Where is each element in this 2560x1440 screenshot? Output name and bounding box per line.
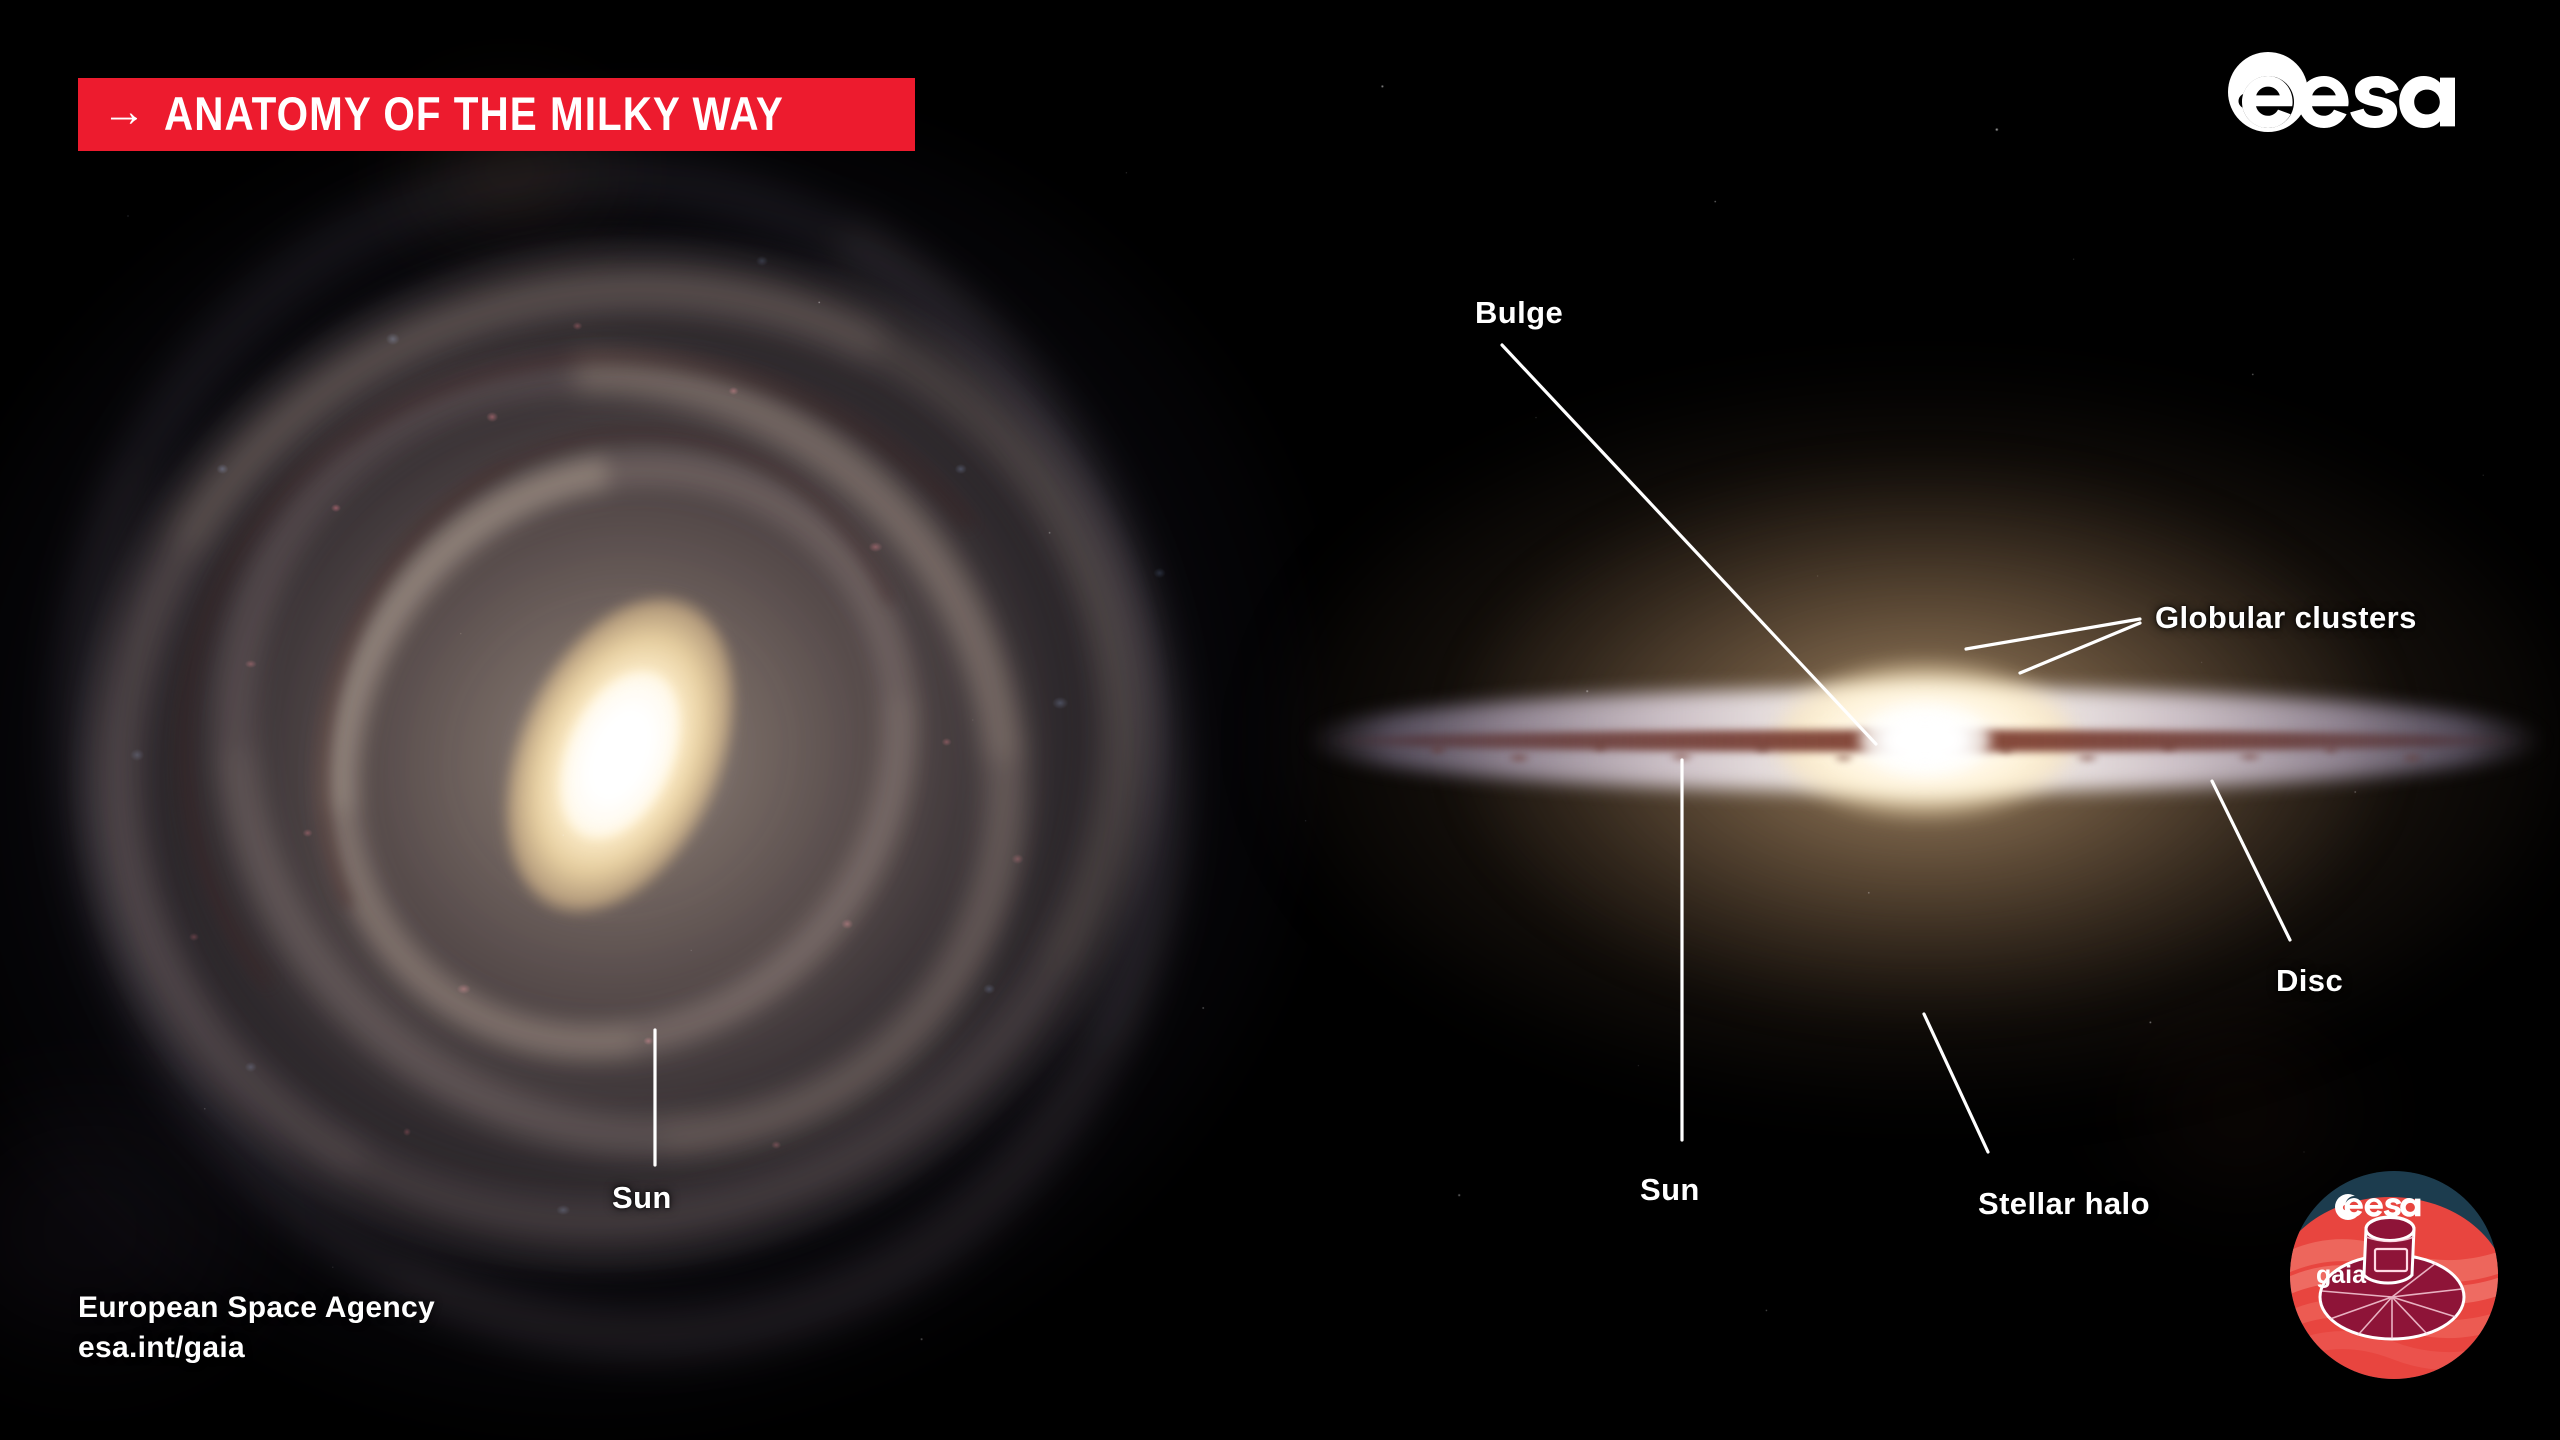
inner-halo-glow: [1475, 480, 2375, 1000]
edge-on-disc: [1305, 688, 2545, 792]
galactic-disc: [0, 95, 1302, 1415]
leader-bulge: [1502, 345, 1876, 744]
gaia-mission-badge[interactable]: gaia: [2286, 1167, 2502, 1388]
gaia-badge-svg: gaia: [2286, 1167, 2502, 1383]
esa-logo-svg: [2224, 48, 2492, 132]
title-banner: → ANATOMY OF THE MILKY WAY: [78, 78, 915, 151]
label-globular-clusters: Globular clusters: [2155, 600, 2417, 636]
badge-mission-name: gaia: [2316, 1261, 2367, 1289]
label-disc: Disc: [2276, 963, 2343, 999]
credit-agency: European Space Agency: [78, 1288, 435, 1328]
spiral-arm-2: [47, 185, 1192, 1325]
edge-on-core-bright: [1859, 703, 1991, 777]
edge-on-dust-lane: [1325, 730, 2525, 752]
leader-stellar-halo: [1924, 1014, 1988, 1152]
galaxy-edge-on-image: [1290, 380, 2560, 1100]
central-bar: [462, 564, 779, 947]
dust-lane-2: [225, 341, 1015, 1170]
leader-globular-2: [2020, 623, 2140, 673]
label-bulge: Bulge: [1475, 295, 1563, 331]
esa-logo: [2224, 48, 2492, 137]
label-stellar-halo: Stellar halo: [1978, 1186, 2150, 1222]
label-sun-edgeon: Sun: [1640, 1172, 1700, 1208]
esa-wordmark: [2242, 76, 2455, 128]
dust-lane-1: [124, 293, 1116, 1217]
dust-clumps: [1345, 730, 2505, 786]
credit-block: European Space Agency esa.int/gaia: [78, 1288, 435, 1368]
leader-disc: [2212, 781, 2290, 940]
arrow-right-icon: →: [102, 90, 146, 134]
credit-url[interactable]: esa.int/gaia: [78, 1328, 435, 1368]
label-sun-faceon: Sun: [612, 1180, 672, 1216]
spiral-arm-3: [200, 330, 1040, 1180]
leader-globular-1: [1966, 619, 2140, 649]
stellar-halo-glow: [1285, 390, 2560, 1090]
starfield-faint: [0, 0, 2560, 1440]
galactic-core: [537, 653, 704, 856]
page-title: ANATOMY OF THE MILKY WAY: [164, 90, 784, 137]
leader-lines: [0, 0, 2560, 1440]
spiral-arm-outer: [0, 2, 1341, 1440]
outer-halo: [0, 0, 1499, 1440]
infographic-canvas: Sun Bulge Globular clusters Disc Sun Ste…: [0, 0, 2560, 1440]
edge-on-bulge: [1775, 665, 2075, 815]
starfield-bright: [0, 0, 2560, 1440]
